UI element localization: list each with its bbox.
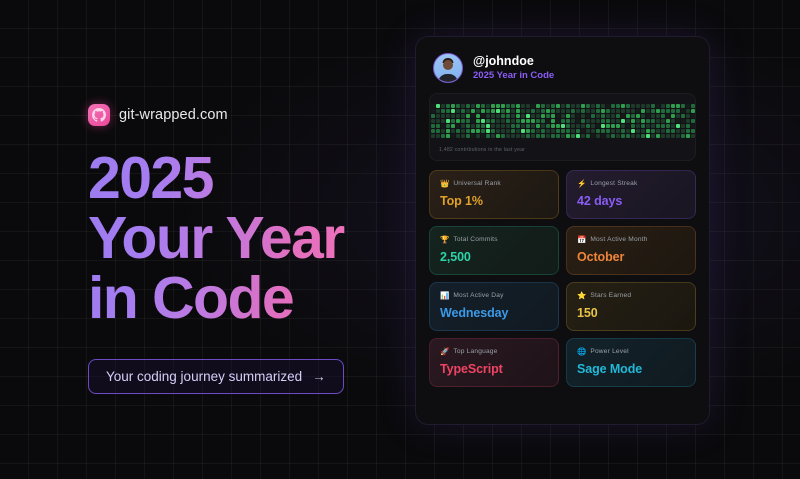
contribution-cell: [596, 124, 600, 128]
contribution-cell: [571, 129, 575, 133]
contribution-cell: [576, 134, 580, 138]
contribution-cell: [481, 114, 485, 118]
stat-card: 🌐Power LevelSage Mode: [566, 338, 696, 387]
contribution-cell: [571, 109, 575, 113]
contribution-cell: [601, 129, 605, 133]
contribution-cell: [461, 129, 465, 133]
headline-line-2: Your Year: [88, 208, 358, 268]
contribution-cell: [601, 119, 605, 123]
contribution-cell: [541, 119, 545, 123]
contribution-cell: [616, 129, 620, 133]
contribution-cell: [496, 134, 500, 138]
contribution-cell: [691, 129, 695, 133]
contribution-cell: [531, 134, 535, 138]
contribution-cell: [491, 109, 495, 113]
contribution-cells: [439, 104, 686, 138]
contribution-cell: [501, 104, 505, 108]
contribution-cell: [656, 109, 660, 113]
contribution-cell: [536, 114, 540, 118]
contribution-cell: [561, 104, 565, 108]
stat-label: Total Commits: [453, 236, 497, 243]
contribution-cell: [506, 119, 510, 123]
contribution-cell: [466, 134, 470, 138]
contribution-cell: [561, 114, 565, 118]
stat-header: 👑Universal Rank: [440, 180, 548, 188]
contribution-cell: [476, 129, 480, 133]
contribution-cell: [481, 104, 485, 108]
contribution-cell: [621, 134, 625, 138]
stat-label: Top Language: [453, 348, 497, 355]
stat-value: 150: [577, 306, 685, 320]
contribution-cell: [496, 129, 500, 133]
contribution-cell: [436, 109, 440, 113]
contribution-cell: [541, 114, 545, 118]
contribution-cell: [636, 119, 640, 123]
contribution-cell: [606, 129, 610, 133]
contribution-cell: [661, 129, 665, 133]
contribution-cell: [676, 114, 680, 118]
contribution-cell: [591, 104, 595, 108]
contribution-cell: [496, 124, 500, 128]
contribution-cell: [661, 134, 665, 138]
contribution-cell: [551, 134, 555, 138]
contribution-cell: [671, 129, 675, 133]
contribution-cell: [636, 109, 640, 113]
contribution-cell: [536, 129, 540, 133]
contribution-cell: [491, 134, 495, 138]
contribution-cell: [661, 109, 665, 113]
brand: git-wrapped.com: [88, 104, 388, 126]
contribution-cell: [621, 109, 625, 113]
stat-value: Sage Mode: [577, 362, 685, 376]
contribution-cell: [516, 109, 520, 113]
contribution-cell: [526, 124, 530, 128]
contribution-cell: [651, 129, 655, 133]
contribution-cell: [431, 129, 435, 133]
contribution-cell: [546, 109, 550, 113]
contribution-cell: [526, 134, 530, 138]
contribution-cell: [436, 114, 440, 118]
headline-line-3: in Code: [88, 268, 358, 328]
contribution-cell: [511, 134, 515, 138]
contribution-cell: [596, 114, 600, 118]
contribution-cell: [671, 119, 675, 123]
contribution-cell: [521, 109, 525, 113]
contribution-cell: [551, 109, 555, 113]
contribution-cell: [491, 114, 495, 118]
contribution-cell: [491, 104, 495, 108]
contribution-cell: [676, 119, 680, 123]
contribution-cell: [601, 124, 605, 128]
contribution-cell: [686, 134, 690, 138]
contribution-cell: [466, 104, 470, 108]
contribution-cell: [521, 114, 525, 118]
contribution-cell: [466, 109, 470, 113]
contribution-cell: [486, 134, 490, 138]
contribution-cell: [646, 109, 650, 113]
contribution-cell: [676, 134, 680, 138]
contribution-cell: [536, 104, 540, 108]
contribution-cell: [586, 109, 590, 113]
contribution-cell: [526, 104, 530, 108]
cta-button[interactable]: Your coding journey summarized →: [88, 359, 344, 394]
contribution-cell: [676, 129, 680, 133]
contribution-cell: [631, 119, 635, 123]
contribution-cell: [551, 129, 555, 133]
contribution-cell: [571, 104, 575, 108]
contribution-cell: [691, 124, 695, 128]
card-identity: @johndoe 2025 Year in Code: [473, 53, 554, 83]
contribution-cell: [441, 109, 445, 113]
contribution-cell: [666, 109, 670, 113]
contribution-cell: [591, 124, 595, 128]
contribution-cell: [511, 114, 515, 118]
headline-line-1: 2025: [88, 148, 358, 208]
contribution-cell: [556, 104, 560, 108]
contribution-cell: [631, 124, 635, 128]
contribution-cell: [491, 124, 495, 128]
card-subtitle: 2025 Year in Code: [473, 70, 554, 83]
avatar: [433, 53, 463, 83]
contribution-cell: [551, 104, 555, 108]
contribution-cell: [586, 114, 590, 118]
contribution-cell: [601, 109, 605, 113]
contribution-cell: [476, 124, 480, 128]
contribution-cell: [681, 124, 685, 128]
stat-header: ⭐Stars Earned: [577, 292, 685, 300]
contribution-cell: [646, 129, 650, 133]
contribution-cell: [596, 104, 600, 108]
contribution-cell: [616, 119, 620, 123]
contribution-cell: [686, 124, 690, 128]
contribution-cell: [451, 119, 455, 123]
contribution-cell: [631, 134, 635, 138]
contribution-cell: [531, 114, 535, 118]
contribution-cell: [666, 124, 670, 128]
contribution-cell: [446, 129, 450, 133]
contribution-cell: [656, 134, 660, 138]
contribution-cell: [506, 104, 510, 108]
contribution-cell: [531, 119, 535, 123]
contribution-cell: [656, 104, 660, 108]
contribution-cell: [551, 119, 555, 123]
contribution-cell: [666, 114, 670, 118]
contribution-cell: [451, 124, 455, 128]
lightning-icon: ⚡: [577, 180, 586, 188]
contribution-cell: [676, 104, 680, 108]
contribution-cell: [606, 104, 610, 108]
contribution-cell: [446, 104, 450, 108]
contribution-cell: [681, 119, 685, 123]
contribution-cell: [466, 114, 470, 118]
contribution-cell: [636, 104, 640, 108]
contribution-cell: [686, 104, 690, 108]
contribution-cell: [651, 104, 655, 108]
contribution-cell: [566, 134, 570, 138]
contribution-cell: [621, 114, 625, 118]
contribution-cell: [506, 114, 510, 118]
github-icon: [88, 104, 110, 126]
contribution-cell: [631, 104, 635, 108]
contribution-cell: [461, 134, 465, 138]
contribution-cell: [531, 104, 535, 108]
contribution-cell: [596, 119, 600, 123]
contribution-cell: [451, 104, 455, 108]
contribution-cell: [546, 119, 550, 123]
contribution-cell: [456, 124, 460, 128]
contribution-cell: [586, 104, 590, 108]
contribution-cell: [586, 124, 590, 128]
contribution-cell: [686, 109, 690, 113]
contribution-cell: [666, 129, 670, 133]
contribution-cell: [461, 104, 465, 108]
contribution-cell: [436, 134, 440, 138]
contribution-cell: [651, 124, 655, 128]
contribution-cell: [641, 134, 645, 138]
contribution-cell: [461, 119, 465, 123]
contribution-cell: [516, 124, 520, 128]
contribution-cell: [671, 109, 675, 113]
contribution-cell: [531, 124, 535, 128]
contribution-cell: [591, 134, 595, 138]
contribution-cell: [461, 109, 465, 113]
contribution-cell: [456, 129, 460, 133]
contribution-cell: [446, 119, 450, 123]
contribution-cell: [651, 109, 655, 113]
rocket-icon: 🚀: [440, 348, 449, 356]
contribution-cell: [576, 104, 580, 108]
contribution-cell: [656, 124, 660, 128]
contribution-cell: [556, 109, 560, 113]
contribution-cell: [606, 119, 610, 123]
contribution-cell: [516, 104, 520, 108]
stat-value: TypeScript: [440, 362, 548, 376]
contribution-cell: [486, 109, 490, 113]
contribution-cell: [531, 129, 535, 133]
contribution-cell: [486, 129, 490, 133]
contribution-cell: [646, 104, 650, 108]
contribution-cell: [546, 104, 550, 108]
stat-header: 📊Most Active Day: [440, 292, 548, 300]
contribution-cell: [436, 124, 440, 128]
calendar-icon: 📅: [577, 236, 586, 244]
contribution-cell: [566, 109, 570, 113]
contribution-cell: [446, 124, 450, 128]
stat-header: ⚡Longest Streak: [577, 180, 685, 188]
contribution-cell: [621, 119, 625, 123]
stat-header: 🚀Top Language: [440, 348, 548, 356]
contribution-cell: [491, 129, 495, 133]
contribution-cell: [596, 129, 600, 133]
contribution-cell: [686, 119, 690, 123]
contribution-cell: [686, 129, 690, 133]
contribution-cell: [591, 114, 595, 118]
contribution-cell: [641, 129, 645, 133]
contribution-cell: [446, 134, 450, 138]
contribution-cell: [581, 124, 585, 128]
contribution-cell: [616, 114, 620, 118]
contribution-cell: [431, 104, 435, 108]
contribution-cell: [476, 114, 480, 118]
contribution-cell: [526, 129, 530, 133]
contribution-cell: [431, 119, 435, 123]
contribution-cell: [446, 109, 450, 113]
contribution-cell: [571, 114, 575, 118]
contribution-cell: [661, 114, 665, 118]
contribution-cell: [636, 124, 640, 128]
contribution-cell: [536, 124, 540, 128]
contribution-cell: [586, 134, 590, 138]
contribution-cell: [581, 119, 585, 123]
contribution-cell: [556, 124, 560, 128]
contribution-cell: [466, 124, 470, 128]
contribution-cell: [466, 129, 470, 133]
contribution-cell: [656, 129, 660, 133]
contribution-cell: [546, 124, 550, 128]
contribution-cell: [506, 129, 510, 133]
contribution-cell: [611, 124, 615, 128]
contribution-cell: [461, 114, 465, 118]
contribution-cell: [516, 119, 520, 123]
contribution-cell: [571, 134, 575, 138]
card-header: @johndoe 2025 Year in Code: [429, 50, 696, 83]
contribution-cell: [561, 119, 565, 123]
contribution-cell: [441, 114, 445, 118]
contribution-cell: [691, 104, 695, 108]
contribution-cell: [581, 114, 585, 118]
stat-label: Universal Rank: [453, 180, 501, 187]
contribution-cell: [451, 134, 455, 138]
contribution-cell: [561, 129, 565, 133]
contribution-cell: [646, 114, 650, 118]
contribution-cell: [611, 129, 615, 133]
contribution-cell: [641, 114, 645, 118]
contribution-cell: [536, 109, 540, 113]
contribution-cell: [431, 114, 435, 118]
contribution-cell: [556, 134, 560, 138]
contribution-cell: [551, 114, 555, 118]
contribution-cell: [471, 134, 475, 138]
contribution-cell: [681, 104, 685, 108]
contribution-cell: [486, 119, 490, 123]
contribution-cell: [611, 114, 615, 118]
contribution-cell: [551, 124, 555, 128]
contribution-cell: [621, 124, 625, 128]
contribution-cell: [471, 124, 475, 128]
contribution-cell: [491, 119, 495, 123]
wrapped-card: @johndoe 2025 Year in Code 1,482 contrib…: [415, 36, 710, 425]
contribution-cell: [441, 104, 445, 108]
contribution-cell: [616, 109, 620, 113]
contribution-cell: [431, 134, 435, 138]
contribution-cell: [616, 134, 620, 138]
contribution-cell: [561, 124, 565, 128]
stat-label: Most Active Day: [453, 292, 503, 299]
contribution-cell: [656, 119, 660, 123]
trophy-icon: 🏆: [440, 236, 449, 244]
contribution-cell: [466, 119, 470, 123]
bar-chart-icon: 📊: [440, 292, 449, 300]
stat-label: Most Active Month: [590, 236, 647, 243]
contribution-cell: [496, 104, 500, 108]
stat-label: Longest Streak: [590, 180, 637, 187]
contribution-cell: [611, 109, 615, 113]
contribution-cell: [556, 114, 560, 118]
contribution-cell: [601, 134, 605, 138]
stat-label: Power Level: [590, 348, 629, 355]
contribution-cell: [631, 129, 635, 133]
stat-card: 🚀Top LanguageTypeScript: [429, 338, 559, 387]
contribution-cell: [546, 134, 550, 138]
contribution-cell: [456, 134, 460, 138]
contribution-cell: [666, 134, 670, 138]
contribution-cell: [671, 124, 675, 128]
contribution-cell: [671, 104, 675, 108]
contribution-cell: [441, 119, 445, 123]
contribution-cell: [471, 104, 475, 108]
contribution-cell: [681, 109, 685, 113]
contribution-cell: [456, 104, 460, 108]
contribution-cell: [566, 129, 570, 133]
stat-value: October: [577, 250, 685, 264]
contribution-cell: [476, 119, 480, 123]
contribution-cell: [496, 114, 500, 118]
contribution-cell: [641, 109, 645, 113]
contribution-cell: [576, 109, 580, 113]
contribution-cell: [626, 104, 630, 108]
contribution-cell: [526, 114, 530, 118]
contribution-cell: [436, 129, 440, 133]
contribution-cell: [496, 109, 500, 113]
contribution-cell: [691, 114, 695, 118]
contribution-cell: [481, 109, 485, 113]
contribution-cell: [566, 104, 570, 108]
contribution-cell: [631, 109, 635, 113]
contribution-cell: [666, 104, 670, 108]
contribution-cell: [676, 109, 680, 113]
contribution-cell: [521, 104, 525, 108]
contribution-cell: [436, 119, 440, 123]
contribution-cell: [606, 134, 610, 138]
contribution-cell: [436, 104, 440, 108]
contribution-cell: [486, 104, 490, 108]
contribution-cell: [601, 104, 605, 108]
contribution-cell: [621, 104, 625, 108]
contribution-cell: [556, 119, 560, 123]
contribution-cell: [546, 114, 550, 118]
stat-label: Stars Earned: [590, 292, 631, 299]
contribution-cell: [671, 134, 675, 138]
contribution-cell: [651, 114, 655, 118]
contribution-cell: [641, 119, 645, 123]
contribution-cell: [626, 124, 630, 128]
contribution-cell: [561, 134, 565, 138]
contribution-cell: [566, 124, 570, 128]
contribution-cell: [556, 129, 560, 133]
contribution-cell: [626, 109, 630, 113]
contribution-cell: [471, 114, 475, 118]
stat-card: ⭐Stars Earned150: [566, 282, 696, 331]
contribution-cell: [516, 129, 520, 133]
contribution-cell: [596, 134, 600, 138]
stat-card: 🏆Total Commits2,500: [429, 226, 559, 275]
contribution-cell: [456, 114, 460, 118]
avatar-body: [438, 74, 458, 83]
contribution-cell: [601, 114, 605, 118]
contribution-cell: [651, 134, 655, 138]
contribution-cell: [586, 119, 590, 123]
contribution-cell: [516, 134, 520, 138]
